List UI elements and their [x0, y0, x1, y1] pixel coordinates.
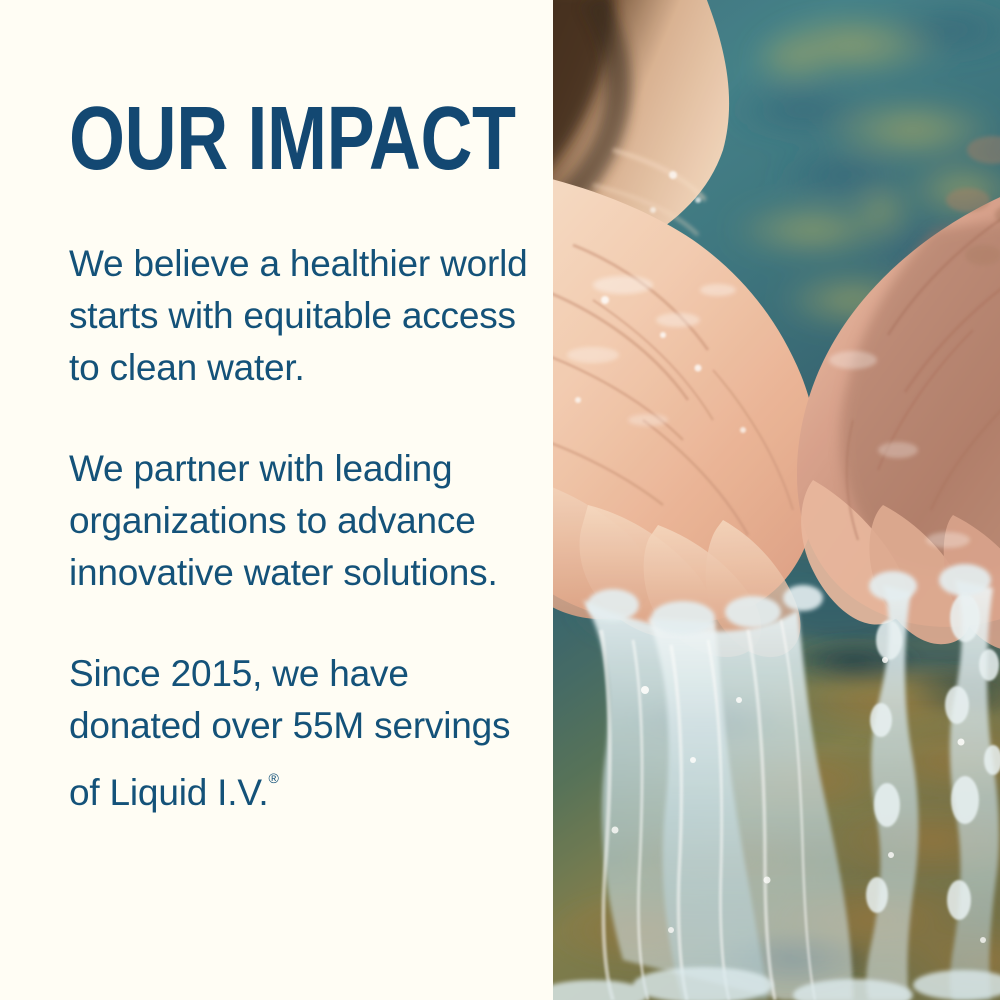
- text-panel: OUR IMPACT We believe a healthier world …: [0, 0, 553, 1000]
- paragraph-belief-statement: We believe a healthier world starts with…: [69, 238, 539, 394]
- page-title: OUR IMPACT: [69, 101, 516, 178]
- body-copy: We believe a healthier world starts with…: [69, 238, 539, 819]
- paragraph-partnership-statement: We partner with leading organizations to…: [69, 443, 539, 599]
- impact-graphic: OUR IMPACT We believe a healthier world …: [0, 0, 1000, 1000]
- photo-warm-overlay: [553, 0, 1000, 1000]
- hands-water-photo: [553, 0, 1000, 1000]
- paragraph-donation-text: Since 2015, we have donated over 55M ser…: [69, 653, 510, 813]
- paragraph-donation-statement: Since 2015, we have donated over 55M ser…: [69, 648, 539, 819]
- registered-trademark-icon: ®: [269, 770, 279, 786]
- paragraph-partnership-text: We partner with leading organizations to…: [69, 448, 498, 593]
- photo-illustration: [553, 0, 1000, 1000]
